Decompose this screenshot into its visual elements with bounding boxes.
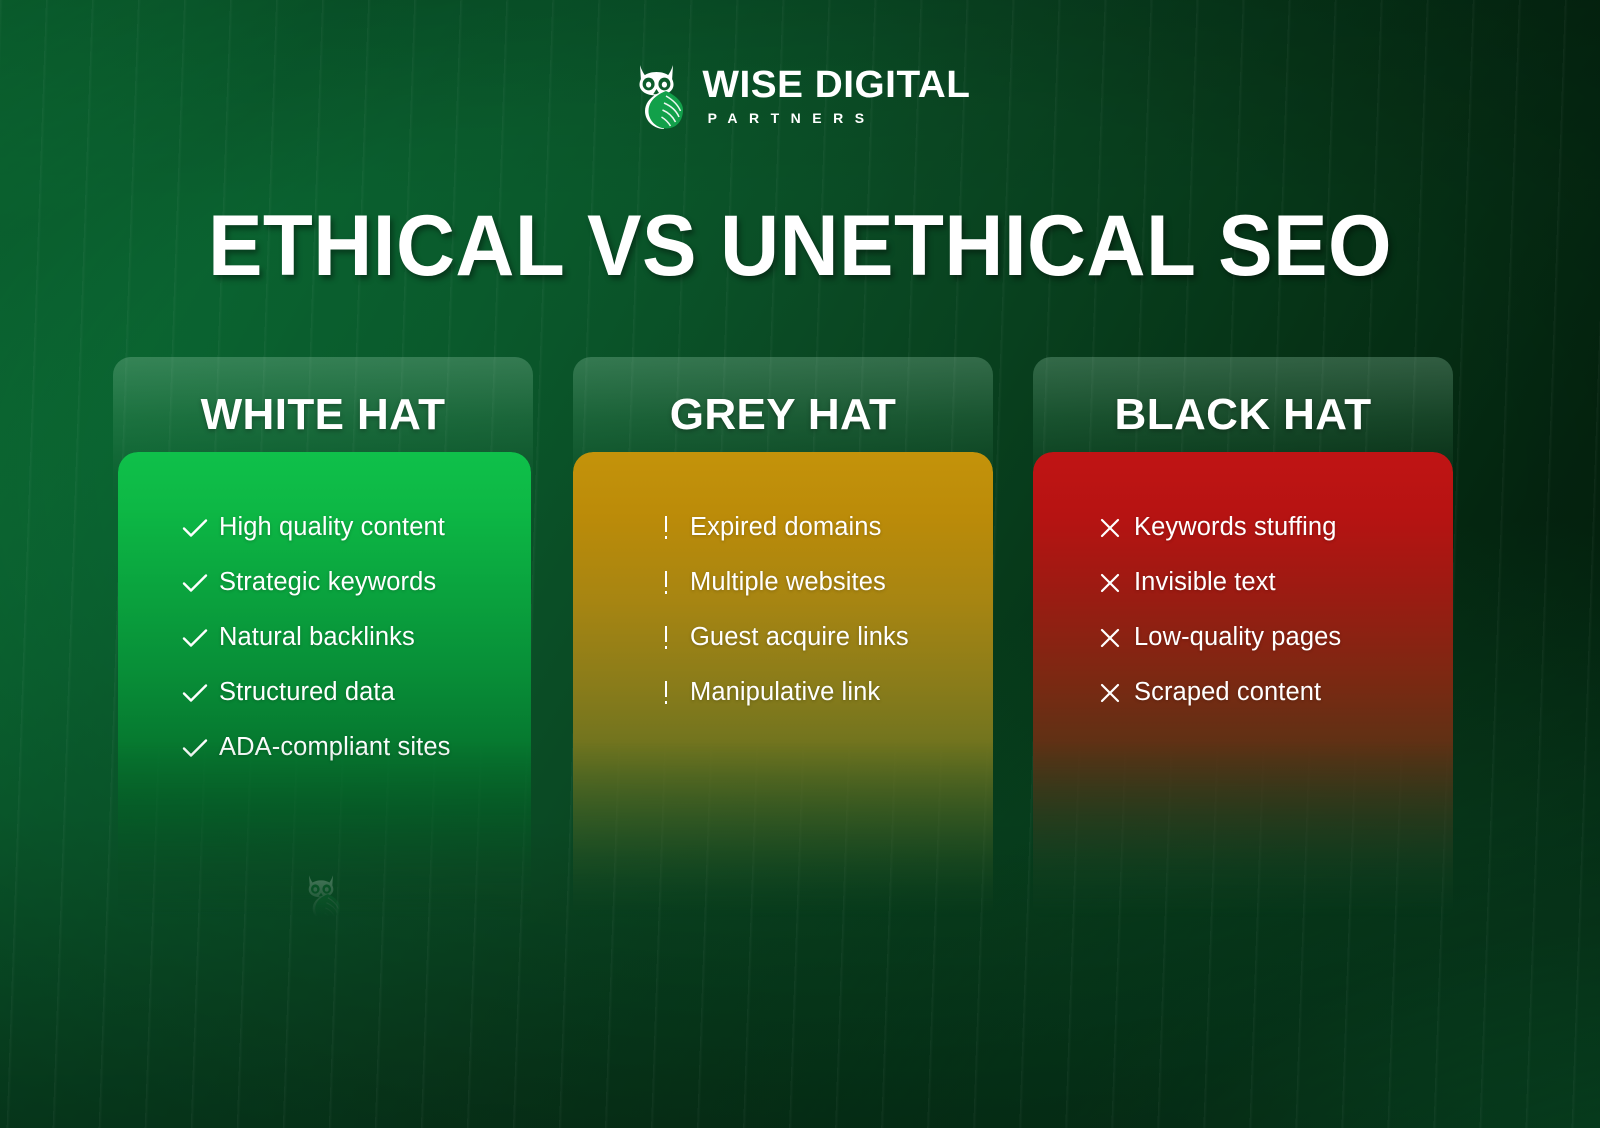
exclamation-icon (651, 625, 681, 651)
card-black-hat: BLACK HAT Keywords stuffing Invisible te… (1033, 357, 1453, 917)
list-item-label: Low-quality pages (1134, 625, 1341, 651)
cross-icon (1095, 517, 1125, 539)
list-item-label: Strategic keywords (219, 570, 436, 596)
check-icon (180, 573, 210, 593)
list-item: Keywords stuffing (1033, 500, 1453, 555)
card-body-white-hat: High quality content Strategic keywords … (118, 452, 531, 917)
list-item: High quality content (118, 500, 531, 555)
list-item-label: Invisible text (1134, 570, 1276, 596)
list-item: Strategic keywords (118, 555, 531, 610)
item-list-grey-hat: Expired domains Multiple websites Guest … (573, 452, 993, 720)
comparison-cards: WHITE HAT High quality content Strategic… (0, 357, 1600, 917)
card-title-black-hat: BLACK HAT (1033, 393, 1453, 437)
card-title-white-hat: WHITE HAT (113, 393, 533, 437)
owl-leaf-logo-icon (633, 60, 691, 130)
list-item-label: Scraped content (1134, 680, 1321, 706)
list-item-label: Expired domains (690, 515, 881, 541)
list-item-label: Multiple websites (690, 570, 886, 596)
list-item: Scraped content (1033, 665, 1453, 720)
brand-logo: WISE DIGITAL PARTNERS (0, 60, 1600, 130)
brand-wordmark: WISE DIGITAL PARTNERS (705, 66, 968, 125)
page-title: ETHICAL VS UNETHICAL SEO (40, 203, 1560, 289)
list-item: Structured data (118, 665, 531, 720)
item-list-black-hat: Keywords stuffing Invisible text Low-qua… (1033, 452, 1453, 720)
exclamation-icon (651, 515, 681, 541)
check-icon (180, 683, 210, 703)
list-item: Guest acquire links (573, 610, 993, 665)
list-item: Manipulative link (573, 665, 993, 720)
exclamation-icon (651, 680, 681, 706)
card-grey-hat: GREY HAT Expired domains Multiple websit… (573, 357, 993, 917)
list-item: Multiple websites (573, 555, 993, 610)
list-item-label: Natural backlinks (219, 625, 415, 651)
list-item: Invisible text (1033, 555, 1453, 610)
list-item-label: ADA-compliant sites (219, 735, 450, 761)
brand-name-secondary: PARTNERS (705, 111, 968, 125)
list-item-label: Guest acquire links (690, 625, 909, 651)
card-title-grey-hat: GREY HAT (573, 393, 993, 437)
check-icon (180, 518, 210, 538)
check-icon (180, 628, 210, 648)
list-item-label: Manipulative link (690, 680, 880, 706)
cross-icon (1095, 627, 1125, 649)
exclamation-icon (651, 570, 681, 596)
item-list-white-hat: High quality content Strategic keywords … (118, 452, 531, 775)
list-item: Natural backlinks (118, 610, 531, 665)
card-body-black-hat: Keywords stuffing Invisible text Low-qua… (1033, 452, 1453, 917)
cross-icon (1095, 682, 1125, 704)
cross-icon (1095, 572, 1125, 594)
list-item-label: Structured data (219, 680, 395, 706)
list-item: Expired domains (573, 500, 993, 555)
card-body-grey-hat: Expired domains Multiple websites Guest … (573, 452, 993, 917)
list-item-label: High quality content (219, 515, 445, 541)
owl-watermark-icon (118, 870, 531, 924)
card-white-hat: WHITE HAT High quality content Strategic… (113, 357, 533, 917)
brand-name-primary: WISE DIGITAL (702, 66, 970, 104)
list-item: ADA-compliant sites (118, 720, 531, 775)
list-item: Low-quality pages (1033, 610, 1453, 665)
list-item-label: Keywords stuffing (1134, 515, 1337, 541)
check-icon (180, 738, 210, 758)
